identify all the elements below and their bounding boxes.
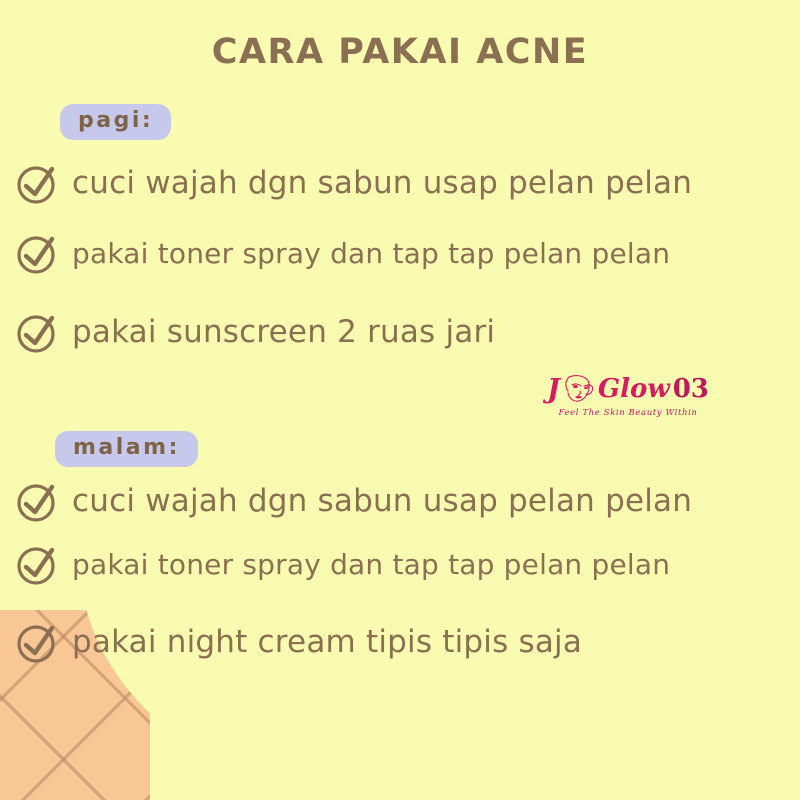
list-item-label: cuci wajah dgn sabun usap pelan pelan (72, 165, 692, 201)
check-circle-icon (14, 230, 60, 276)
page-title: CARA PAKAI ACNE (0, 32, 800, 72)
list-item-label: pakai sunscreen 2 ruas jari (72, 314, 495, 350)
list-item: pakai night cream tipis tipis saja (14, 619, 582, 665)
check-circle-icon (14, 309, 60, 355)
check-circle-icon (14, 478, 60, 524)
check-circle-icon (14, 160, 60, 206)
woman-face-icon (561, 373, 597, 405)
check-circle-icon (14, 619, 60, 665)
list-item-label: pakai toner spray dan tap tap pelan pela… (72, 548, 670, 581)
list-item-label: pakai toner spray dan tap tap pelan pela… (72, 237, 670, 270)
list-item: cuci wajah dgn sabun usap pelan pelan (14, 160, 692, 206)
logo-number: 03 (673, 376, 709, 402)
list-item: pakai sunscreen 2 ruas jari (14, 309, 495, 355)
list-item: cuci wajah dgn sabun usap pelan pelan (14, 478, 692, 524)
logo-letter: J (547, 376, 560, 403)
brand-logo: J (548, 372, 708, 418)
section-badge-pagi: pagi: (60, 104, 171, 140)
list-item-label: cuci wajah dgn sabun usap pelan pelan (72, 483, 692, 519)
list-item: pakai toner spray dan tap tap pelan pela… (14, 230, 670, 276)
list-item: pakai toner spray dan tap tap pelan pela… (14, 541, 670, 587)
section-badge-malam: malam: (55, 431, 198, 467)
list-item-label: pakai night cream tipis tipis saja (72, 624, 582, 660)
logo-tagline: Feel The Skin Beauty Within (548, 408, 708, 418)
check-circle-icon (14, 541, 60, 587)
poster-canvas: CARA PAKAI ACNE pagi: cuci wajah dgn sab… (0, 0, 800, 800)
logo-word: Glow (598, 376, 670, 402)
